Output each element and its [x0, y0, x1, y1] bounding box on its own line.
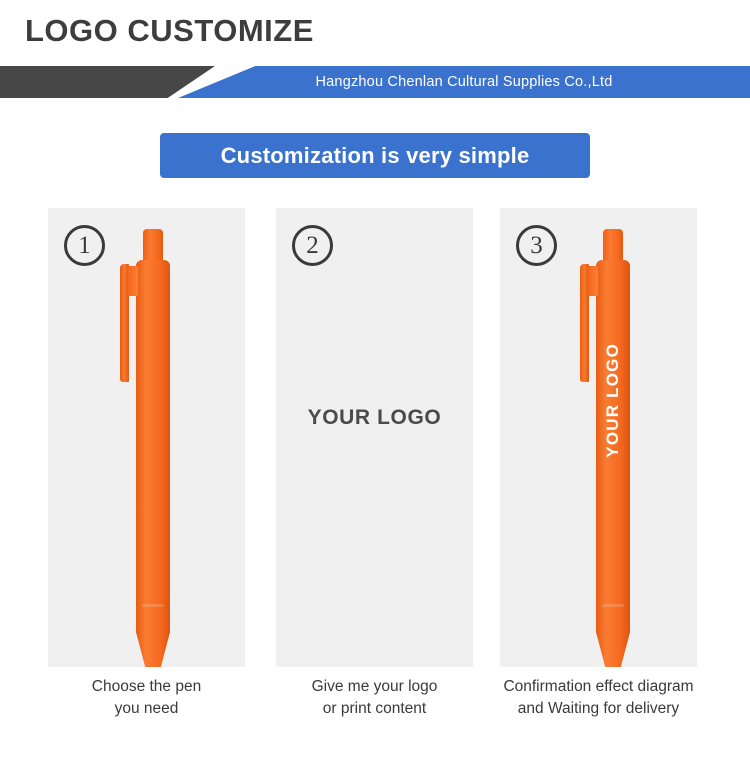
caption-line-2: or print content: [256, 698, 493, 720]
pen-seam-icon: [142, 604, 164, 607]
step-panel-2: 2 YOUR LOGO: [276, 208, 473, 667]
caption-line-1: Choose the pen: [28, 676, 265, 698]
pen-barrel-icon: [136, 260, 170, 634]
pen-printed-logo: YOUR LOGO: [603, 343, 623, 458]
company-name: Hangzhou Chenlan Cultural Supplies Co.,L…: [178, 66, 750, 98]
caption-line-1: Confirmation effect diagram: [480, 676, 717, 698]
step-number-3: 3: [516, 225, 557, 266]
pen-clip-joint-icon: [588, 266, 598, 296]
step-caption-1: Choose the pen you need: [28, 676, 265, 721]
step-number-1: 1: [64, 225, 105, 266]
header-ribbon: Hangzhou Chenlan Cultural Supplies Co.,L…: [0, 66, 750, 98]
page-title: LOGO CUSTOMIZE: [25, 13, 314, 49]
your-logo-text: YOUR LOGO: [276, 406, 473, 430]
steps-container: 1 2 YOUR LOGO 3 YOUR LOGO: [0, 208, 750, 668]
step-caption-2: Give me your logo or print content: [256, 676, 493, 721]
customization-banner: Customization is very simple: [160, 133, 590, 178]
caption-line-2: and Waiting for delivery: [480, 698, 717, 720]
step-caption-3: Confirmation effect diagram and Waiting …: [480, 676, 717, 721]
pen-tip-icon: [596, 632, 630, 667]
step-number-2: 2: [292, 225, 333, 266]
caption-line-1: Give me your logo: [256, 676, 493, 698]
caption-line-2: you need: [28, 698, 265, 720]
pen-tip-icon: [136, 632, 170, 667]
step-panel-3: 3 YOUR LOGO: [500, 208, 697, 667]
pen-seam-icon: [602, 604, 624, 607]
pen-clip-joint-icon: [128, 266, 138, 296]
step-panel-1: 1: [48, 208, 245, 667]
